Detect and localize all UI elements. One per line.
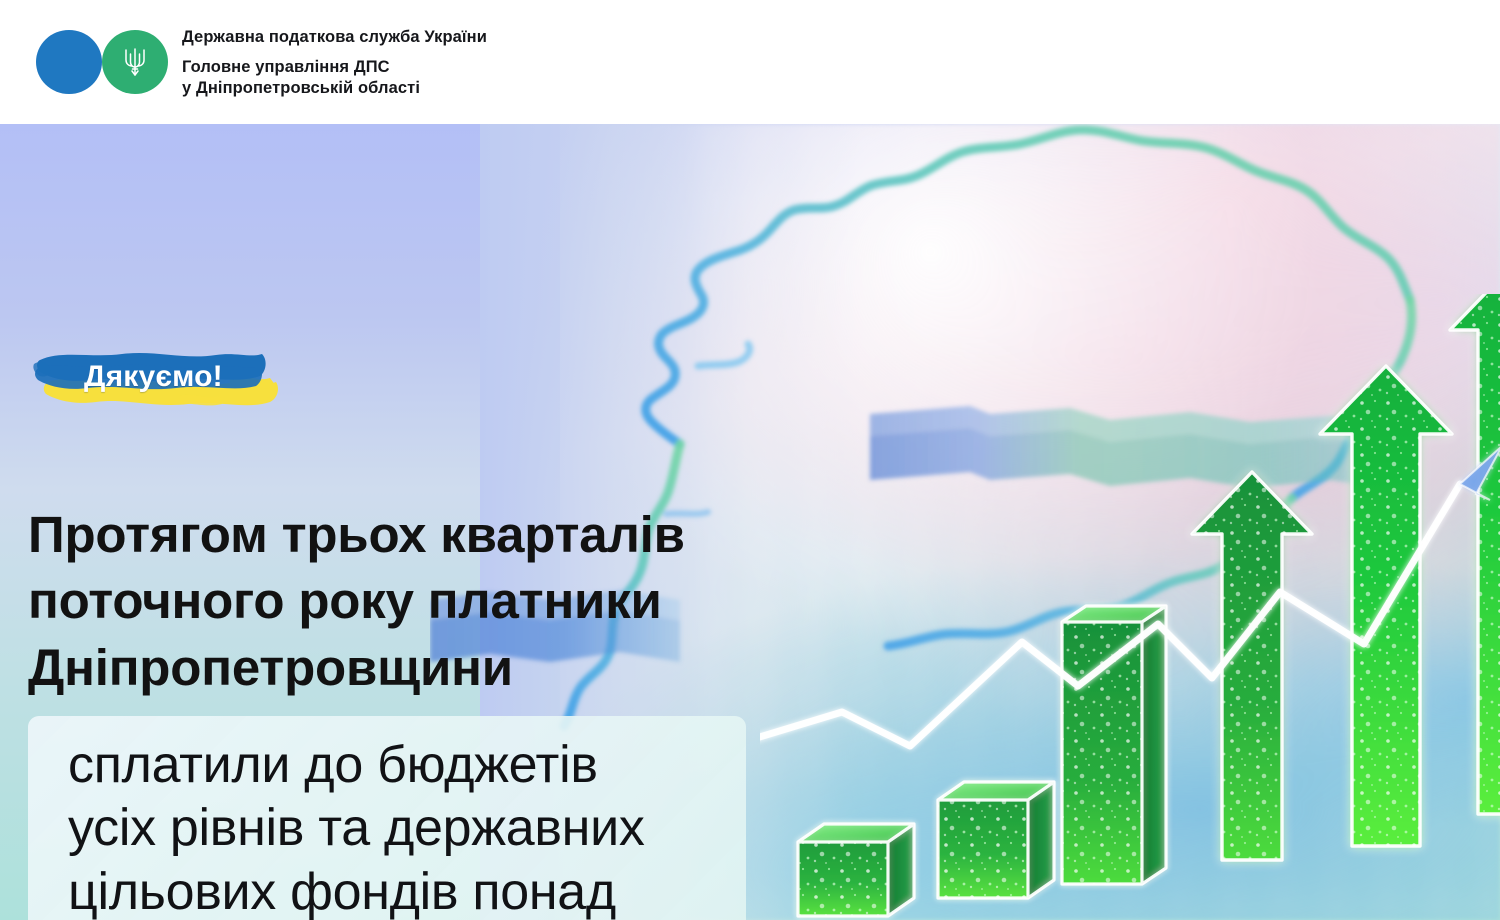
chart-bar-3 bbox=[1062, 606, 1166, 884]
organization-title: Державна податкова служба України bbox=[182, 27, 487, 48]
chart-bar-2 bbox=[938, 782, 1054, 898]
logo-blue-circle-icon bbox=[36, 30, 102, 94]
organization-logo bbox=[36, 30, 168, 94]
chart-arrow-6 bbox=[1450, 294, 1500, 814]
thank-you-badge: Дякуємо! bbox=[30, 342, 286, 412]
growth-chart-graphic bbox=[760, 294, 1500, 920]
chart-arrow-4 bbox=[1192, 472, 1312, 860]
chart-bar-1 bbox=[798, 824, 914, 916]
poster-stage: Дякуємо! Протягом трьох кварталів поточн… bbox=[0, 124, 1500, 920]
statement-panel: сплатили до бюджетів усіх рівнів та держ… bbox=[28, 716, 746, 920]
ukraine-trident-icon bbox=[122, 45, 148, 79]
organization-subtitle: Головне управління ДПС у Дніпропетровськ… bbox=[182, 57, 487, 100]
statement-text: сплатили до бюджетів усіх рівнів та держ… bbox=[68, 734, 768, 920]
page-header: Державна податкова служба України Головн… bbox=[0, 0, 1500, 124]
page-headline: Протягом трьох кварталів поточного року … bbox=[28, 502, 788, 701]
infographic-poster: Державна податкова служба України Головн… bbox=[0, 0, 1500, 920]
thank-you-label: Дякуємо! bbox=[84, 360, 223, 394]
logo-green-circle-icon bbox=[102, 30, 168, 94]
header-text-block: Державна податкова служба України Головн… bbox=[182, 27, 487, 100]
